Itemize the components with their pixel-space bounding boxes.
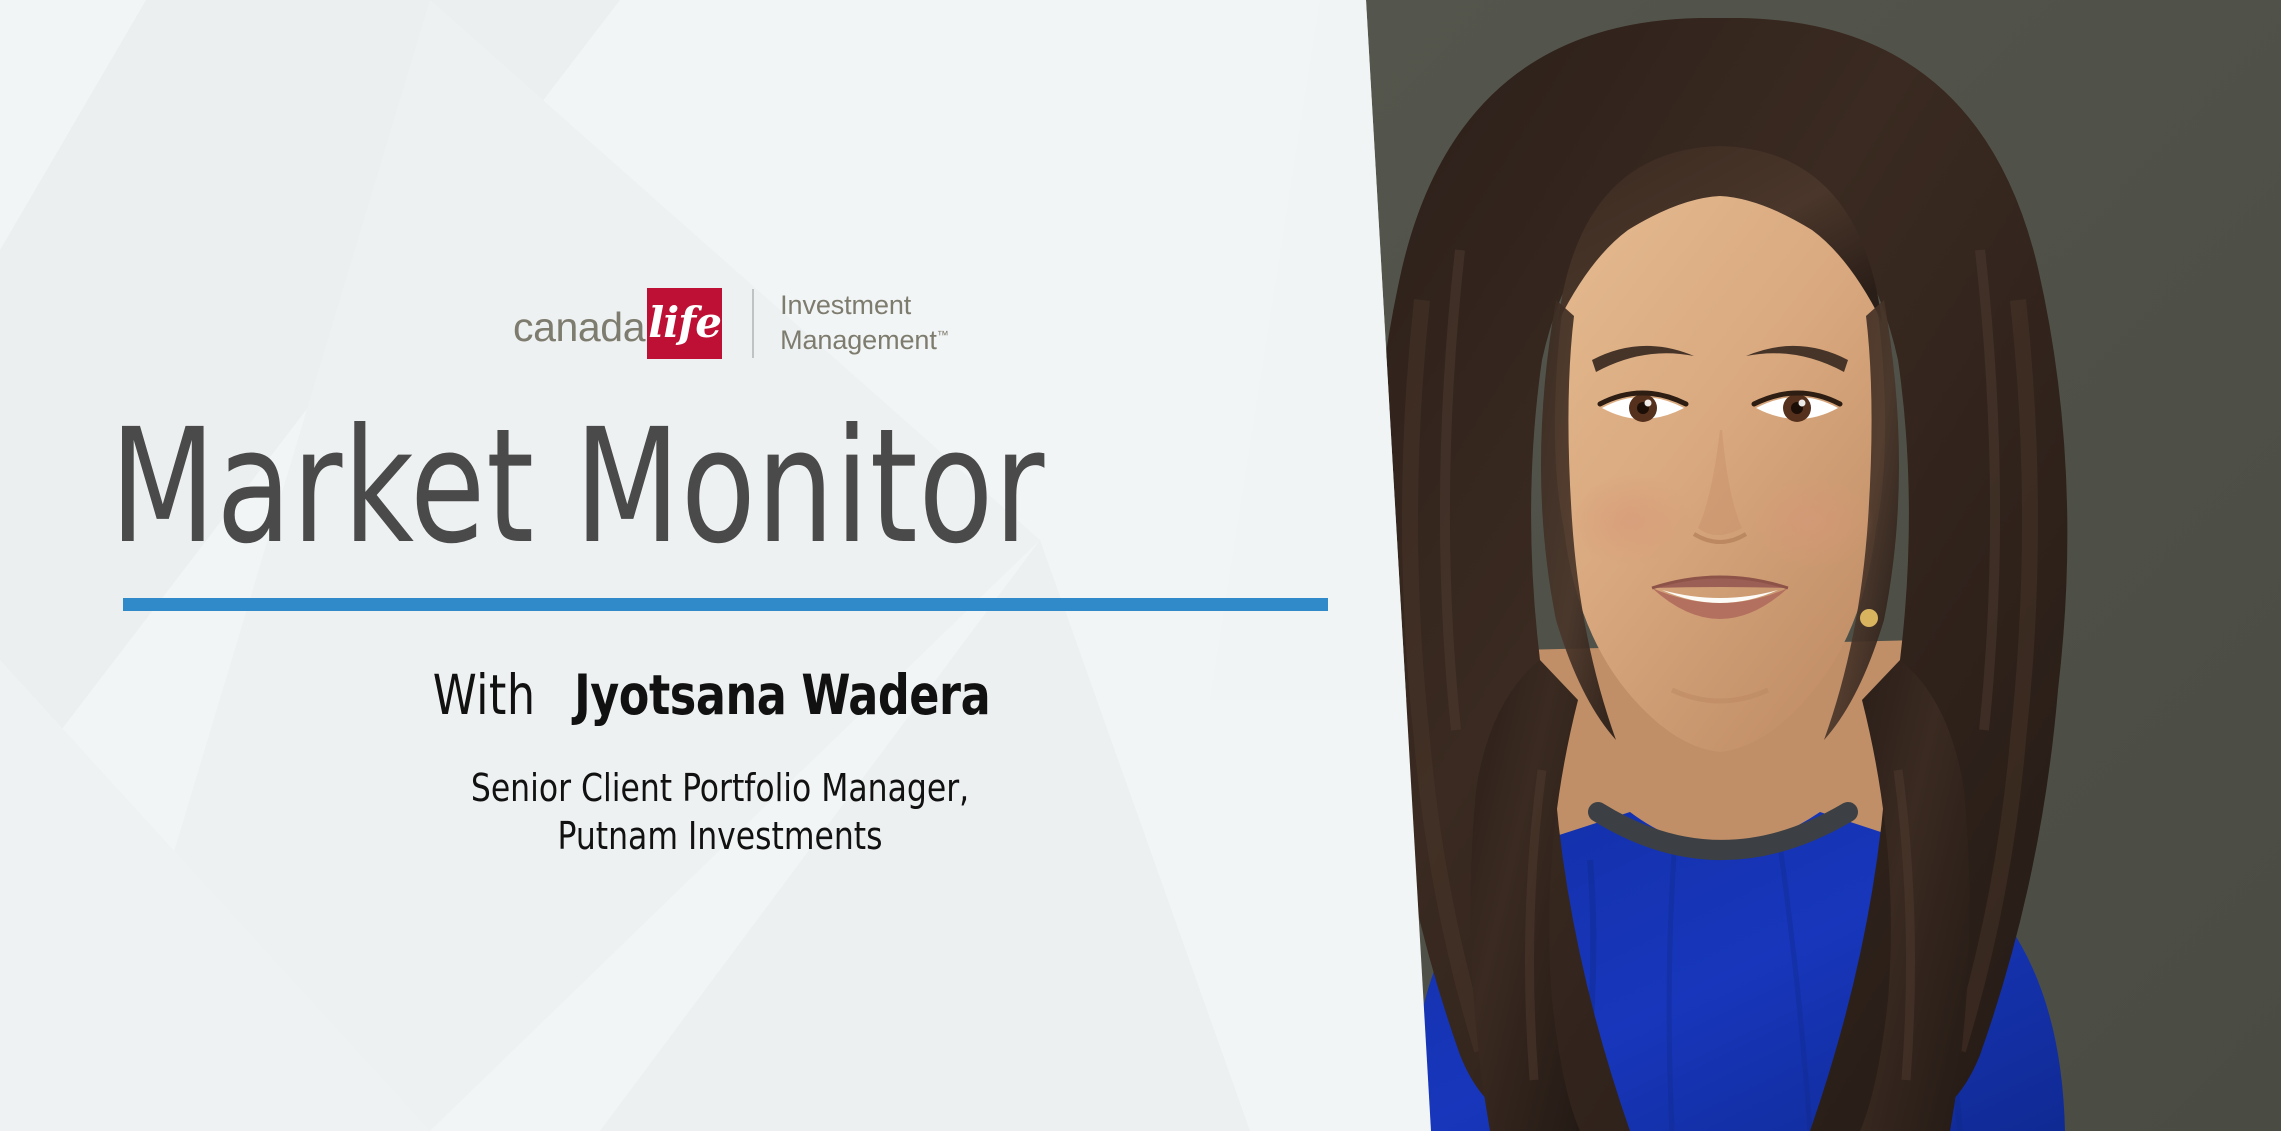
canada-life-logo: canada life Investment Management™ — [513, 288, 949, 358]
logo-subtitle-line1: Investment — [780, 290, 911, 320]
presenter-name: Jyotsana Wadera — [574, 668, 990, 723]
logo-life-badge: life — [647, 288, 722, 359]
logo-divider — [752, 289, 754, 358]
logo-subtitle-line2: Management — [780, 325, 937, 355]
presenter-role: Senior Client Portfolio Manager, Putnam … — [58, 765, 1383, 860]
presenter-line: WithJyotsana Wadera — [0, 668, 1440, 723]
market-monitor-banner: canada life Investment Management™ Marke… — [0, 0, 2281, 1131]
logo-wordmark-life: life — [648, 302, 721, 344]
logo-wordmark-canada: canada — [513, 307, 645, 348]
presenter-role-line2: Putnam Investments — [58, 813, 1383, 861]
presenter-role-line1: Senior Client Portfolio Manager, — [58, 765, 1383, 813]
title-accent-rule — [123, 598, 1328, 611]
trademark-symbol: ™ — [937, 328, 949, 342]
presenter-with-label: With — [432, 668, 535, 723]
logo-subtitle: Investment Management™ — [780, 288, 949, 357]
page-title: Market Monitor — [110, 408, 1045, 566]
